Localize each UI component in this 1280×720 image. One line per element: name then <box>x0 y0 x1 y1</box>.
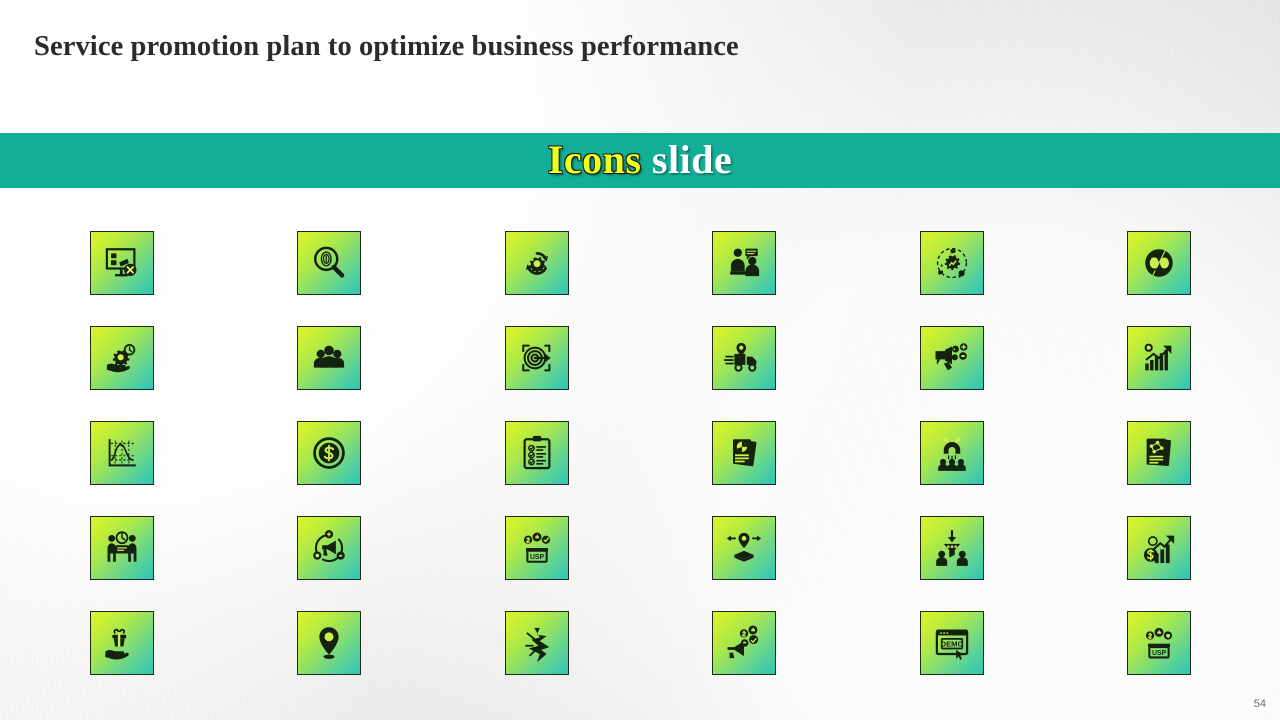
page-title: Service promotion plan to optimize busin… <box>34 31 739 63</box>
burst-shatter-icon[interactable] <box>505 611 569 675</box>
document-analysis-icon[interactable] <box>712 421 776 485</box>
bell-curve-chart-icon[interactable] <box>90 421 154 485</box>
dollar-coin-icon <box>307 431 351 475</box>
bell-curve-chart-icon <box>100 431 144 475</box>
social-media-megaphone-icon[interactable] <box>920 326 984 390</box>
people-handoff-icon <box>100 526 144 570</box>
demo-browser-icon[interactable]: DEMO <box>920 611 984 675</box>
clipboard-checklist-icon[interactable] <box>505 421 569 485</box>
meeting-discussion-icon[interactable] <box>712 231 776 295</box>
gear-cycle-icon[interactable] <box>505 231 569 295</box>
megaphone-coins-icon[interactable] <box>712 611 776 675</box>
section-banner-accent: Icons <box>548 137 642 182</box>
document-analysis-icon <box>722 431 766 475</box>
megaphone-network-icon[interactable] <box>297 516 361 580</box>
dollar-growth-chart-icon <box>1137 526 1181 570</box>
funnel-to-people-icon[interactable] <box>920 516 984 580</box>
dollar-coin-icon[interactable] <box>297 421 361 485</box>
title-area: Service promotion plan to optimize busin… <box>0 0 1280 128</box>
people-handoff-icon[interactable] <box>90 516 154 580</box>
megaphone-network-icon <box>307 526 351 570</box>
fingerprint-magnifier-icon[interactable] <box>297 231 361 295</box>
burst-shatter-icon <box>515 621 559 665</box>
funnel-to-people-icon <box>930 526 974 570</box>
svg-text:USP: USP <box>1152 650 1167 657</box>
svg-text:USP: USP <box>530 554 545 561</box>
location-pin-icon <box>307 621 351 665</box>
demo-browser-icon: DEMO <box>930 621 974 665</box>
megaphone-coins-icon <box>722 621 766 665</box>
pie-chart-circle-icon <box>1137 241 1181 285</box>
svg-text:DEMO: DEMO <box>941 639 964 648</box>
location-distribution-icon <box>722 526 766 570</box>
fingerprint-magnifier-icon <box>307 241 351 285</box>
gear-orbit-analytics-icon <box>930 241 974 285</box>
location-pin-icon[interactable] <box>297 611 361 675</box>
slide-canvas: Service promotion plan to optimize busin… <box>0 0 1280 720</box>
usp-value-box-2-icon: USP <box>1137 621 1181 665</box>
team-group-icon[interactable] <box>297 326 361 390</box>
delivery-truck-location-icon <box>722 336 766 380</box>
presentation-board-error-icon <box>100 241 144 285</box>
magnet-customers-icon <box>930 431 974 475</box>
section-banner-text: Icons slide <box>548 140 732 180</box>
team-group-icon <box>307 336 351 380</box>
magnet-customers-icon[interactable] <box>920 421 984 485</box>
clipboard-checklist-icon <box>515 431 559 475</box>
gear-cycle-icon <box>515 241 559 285</box>
meeting-discussion-icon <box>722 241 766 285</box>
document-network-chart-icon[interactable] <box>1127 421 1191 485</box>
growth-bar-chart-icon <box>1137 336 1181 380</box>
usp-value-box-icon: USP <box>515 526 559 570</box>
hand-gift-basket-icon[interactable] <box>90 611 154 675</box>
target-arrow-icon[interactable] <box>505 326 569 390</box>
dollar-growth-chart-icon[interactable] <box>1127 516 1191 580</box>
location-distribution-icon[interactable] <box>712 516 776 580</box>
usp-value-box-icon[interactable]: USP <box>505 516 569 580</box>
page-number: 54 <box>1254 698 1266 710</box>
delivery-truck-location-icon[interactable] <box>712 326 776 390</box>
presentation-board-error-icon[interactable] <box>90 231 154 295</box>
section-banner-rest: slide <box>641 137 732 182</box>
usp-value-box-2-icon[interactable]: USP <box>1127 611 1191 675</box>
growth-bar-chart-icon[interactable] <box>1127 326 1191 390</box>
section-banner: Icons slide <box>0 133 1280 188</box>
pie-chart-circle-icon[interactable] <box>1127 231 1191 295</box>
hand-gear-clock-icon[interactable] <box>90 326 154 390</box>
gear-orbit-analytics-icon[interactable] <box>920 231 984 295</box>
hand-gift-basket-icon <box>100 621 144 665</box>
document-network-chart-icon <box>1137 431 1181 475</box>
social-media-megaphone-icon <box>930 336 974 380</box>
hand-gear-clock-icon <box>100 336 144 380</box>
target-arrow-icon <box>515 336 559 380</box>
